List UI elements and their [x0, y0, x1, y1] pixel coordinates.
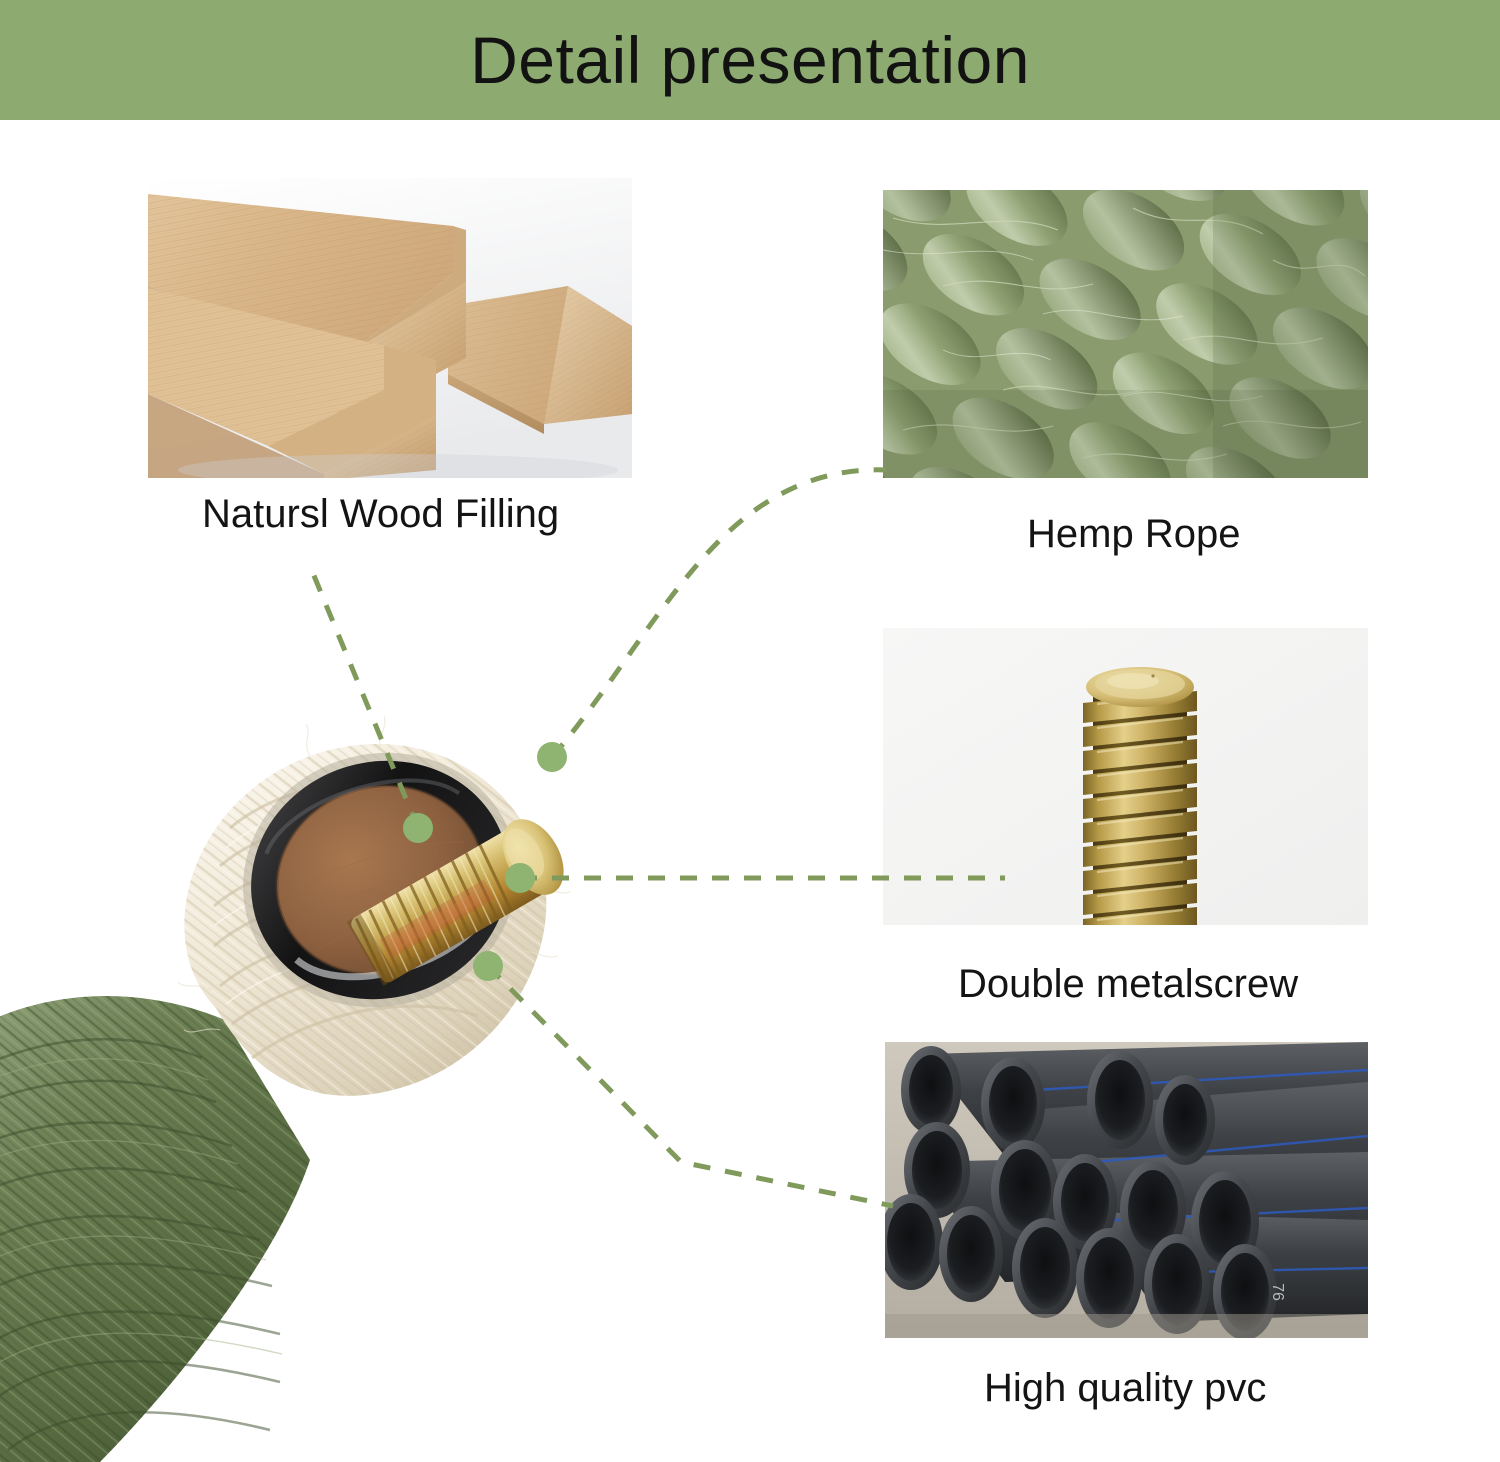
metal-screw-photo — [883, 628, 1368, 925]
photo-pvc-pipes: 76 — [885, 1042, 1368, 1338]
caption-pvc: High quality pvc — [984, 1366, 1266, 1410]
cat-scratching-post-end-photo — [0, 690, 740, 1462]
photo-metal-screw — [883, 628, 1368, 925]
wood-beams-photo — [148, 178, 632, 478]
photo-hemp-rope — [883, 190, 1368, 478]
caption-metal-screw: Double metalscrew — [958, 962, 1298, 1006]
photo-wood-beams — [148, 178, 632, 478]
hemp-rope-photo — [883, 190, 1368, 478]
pvc-pipes-photo: 76 — [885, 1042, 1368, 1338]
hero-product-photo — [0, 690, 740, 1462]
svg-text:76: 76 — [1269, 1283, 1286, 1301]
page-title: Detail presentation — [0, 0, 1500, 120]
caption-wood: Natursl Wood Filling — [202, 492, 559, 536]
caption-hemp-rope: Hemp Rope — [1027, 512, 1240, 556]
infographic-page: Detail presentation — [0, 0, 1500, 1462]
